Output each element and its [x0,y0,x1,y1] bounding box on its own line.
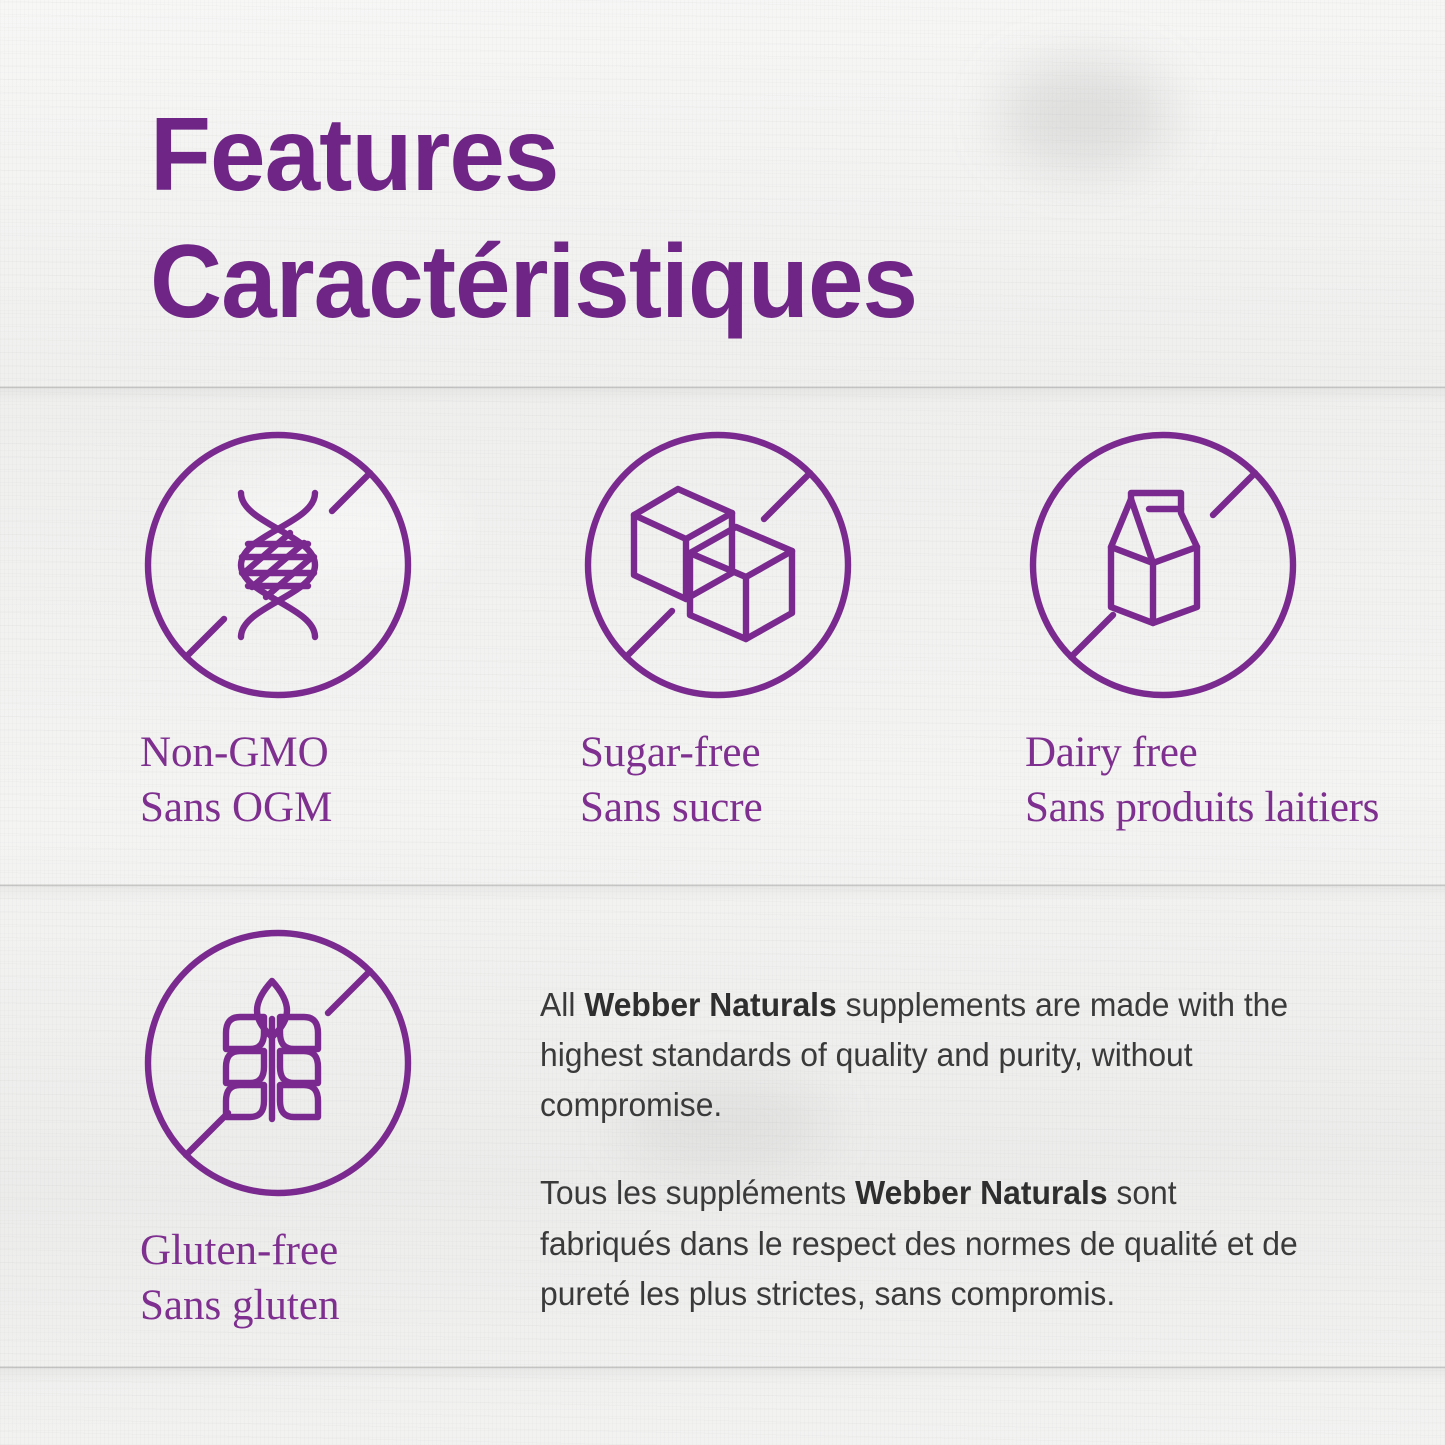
feature-label-fr: Sans gluten [140,1278,416,1333]
page-title: Features Caractéristiques [150,92,1330,346]
feature-label-gluten-free: Gluten-free Sans gluten [140,1223,416,1333]
feature-label-dairy-free: Dairy free Sans produits laitiers [1025,725,1379,835]
no-sugar-cubes-icon [580,427,856,703]
no-dairy-carton-icon [1025,427,1301,703]
brand-statement-block: All Webber Naturals supplements are made… [540,980,1330,1319]
feature-label-sugar-free: Sugar-free Sans sucre [580,725,856,835]
feature-item-sugar-free: Sugar-free Sans sucre [580,427,856,835]
page-title-fr: Caractéristiques [150,219,1283,346]
feature-item-dairy-free: Dairy free Sans produits laitiers [1025,427,1379,835]
no-gmo-dna-icon [140,427,416,703]
no-gluten-wheat-icon [140,925,416,1201]
feature-label-fr: Sans produits laitiers [1025,780,1379,835]
feature-label-fr: Sans sucre [580,780,856,835]
feature-panel: Features Caractéristiques [0,0,1445,1445]
copy-fr-pre: Tous les suppléments [540,1174,855,1211]
brand-name-fr: Webber Naturals [855,1174,1107,1211]
copy-en-pre: All [540,986,584,1023]
feature-label-en: Dairy free [1025,729,1197,776]
feature-item-non-gmo: Non-GMO Sans OGM [140,427,416,835]
feature-label-non-gmo: Non-GMO Sans OGM [140,725,416,835]
brand-name-en: Webber Naturals [584,986,836,1023]
feature-item-gluten-free: Gluten-free Sans gluten [140,925,416,1333]
feature-label-en: Gluten-free [140,1227,338,1274]
feature-label-en: Non-GMO [140,729,329,776]
feature-label-en: Sugar-free [580,729,761,776]
page-title-en: Features [150,92,1283,219]
feature-label-fr: Sans OGM [140,780,416,835]
brand-statement-fr: Tous les suppléments Webber Naturals son… [540,1168,1302,1318]
brand-statement-en: All Webber Naturals supplements are made… [540,980,1302,1130]
